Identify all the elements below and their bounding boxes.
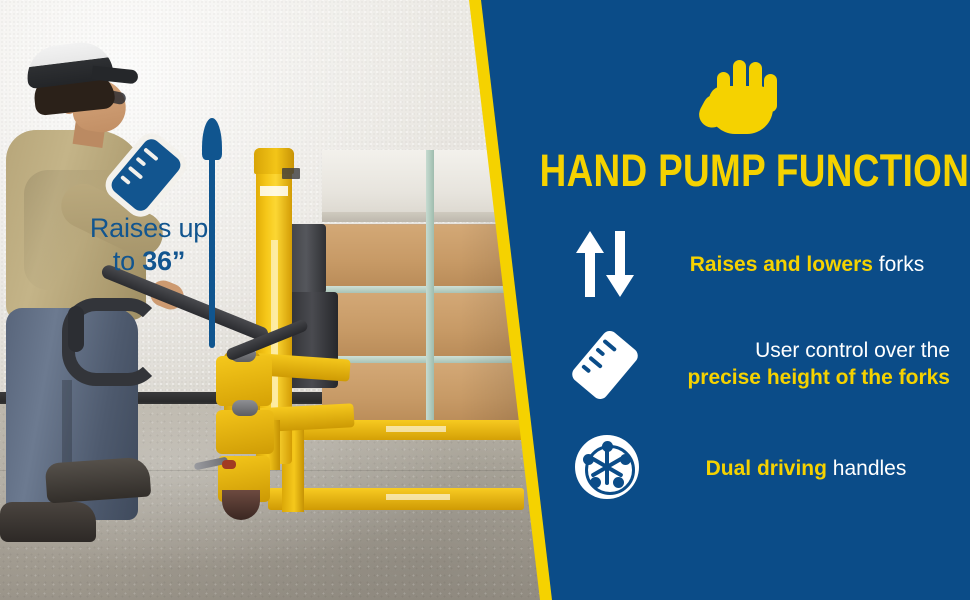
- arrow-down-head: [606, 275, 634, 297]
- feature-text: Dual driving handles: [662, 455, 950, 482]
- raises-caption-line1: Raises up: [90, 213, 208, 243]
- fork-reflective-stripe-lower: [386, 494, 450, 500]
- drive-handle-grip: [68, 306, 84, 352]
- feature-rest: forks: [873, 253, 924, 276]
- wheel-hub: [603, 463, 611, 471]
- arrow-down-shaft: [615, 231, 625, 281]
- raises-caption-value: 36”: [142, 246, 185, 276]
- wheel-icon: [572, 433, 642, 503]
- pump-housing-upper: [216, 356, 272, 406]
- wheel-hole: [583, 454, 594, 465]
- feature-rest: handles: [827, 457, 906, 480]
- feature-highlight: Raises and lowers: [690, 253, 873, 276]
- page-title: HAND PUMP FUNCTION: [540, 146, 901, 196]
- feature-text: Raises and lowers forks: [664, 251, 950, 278]
- wheel-spoke: [605, 469, 609, 485]
- arrow-up-icon: [576, 231, 604, 297]
- ruler-icon: [572, 328, 644, 400]
- feature-text: User control over theprecise height of t…: [658, 337, 950, 391]
- mast-label: [260, 186, 288, 196]
- wheel-hole: [620, 454, 631, 465]
- arrow-up-shaft: [585, 247, 595, 297]
- hand-palm: [709, 86, 773, 134]
- pump-housing-lower: [216, 410, 274, 454]
- wheel-hole: [590, 477, 601, 488]
- raises-caption-prefix: to: [113, 246, 142, 276]
- wheel-graphic: [575, 435, 639, 499]
- caster-wheel: [222, 490, 260, 520]
- arrow-down-icon: [606, 231, 634, 297]
- wheel-hole: [602, 441, 613, 452]
- product-photo: Raises up to 36”: [0, 0, 560, 600]
- ruler-graphic: [569, 328, 641, 402]
- pivot-pin-lower: [232, 400, 258, 416]
- feature-row-raises-lowers: Raises and lowers forks: [572, 228, 950, 300]
- feature-line2: precise height of the forks: [687, 366, 950, 389]
- promo-banner: Raises up to 36” HAND PUMP FUNCTION: [0, 0, 970, 600]
- feature-row-precise-height: User control over theprecise height of t…: [572, 325, 950, 403]
- ce-marking: [282, 168, 300, 179]
- arrow-shaft: [209, 154, 215, 348]
- fork-reflective-stripe-upper: [386, 426, 446, 432]
- hand-icon: [703, 56, 779, 134]
- feature-highlight: Dual driving: [706, 457, 827, 480]
- worker-boot-left: [0, 502, 96, 542]
- feature-row-dual-handles: Dual driving handles: [572, 432, 950, 504]
- up-arrow-icon: [196, 118, 228, 348]
- up-down-arrows-icon: [572, 231, 642, 297]
- wheel-hole: [613, 477, 624, 488]
- release-lever-grip: [222, 460, 236, 469]
- feature-line1: User control over the: [755, 339, 950, 362]
